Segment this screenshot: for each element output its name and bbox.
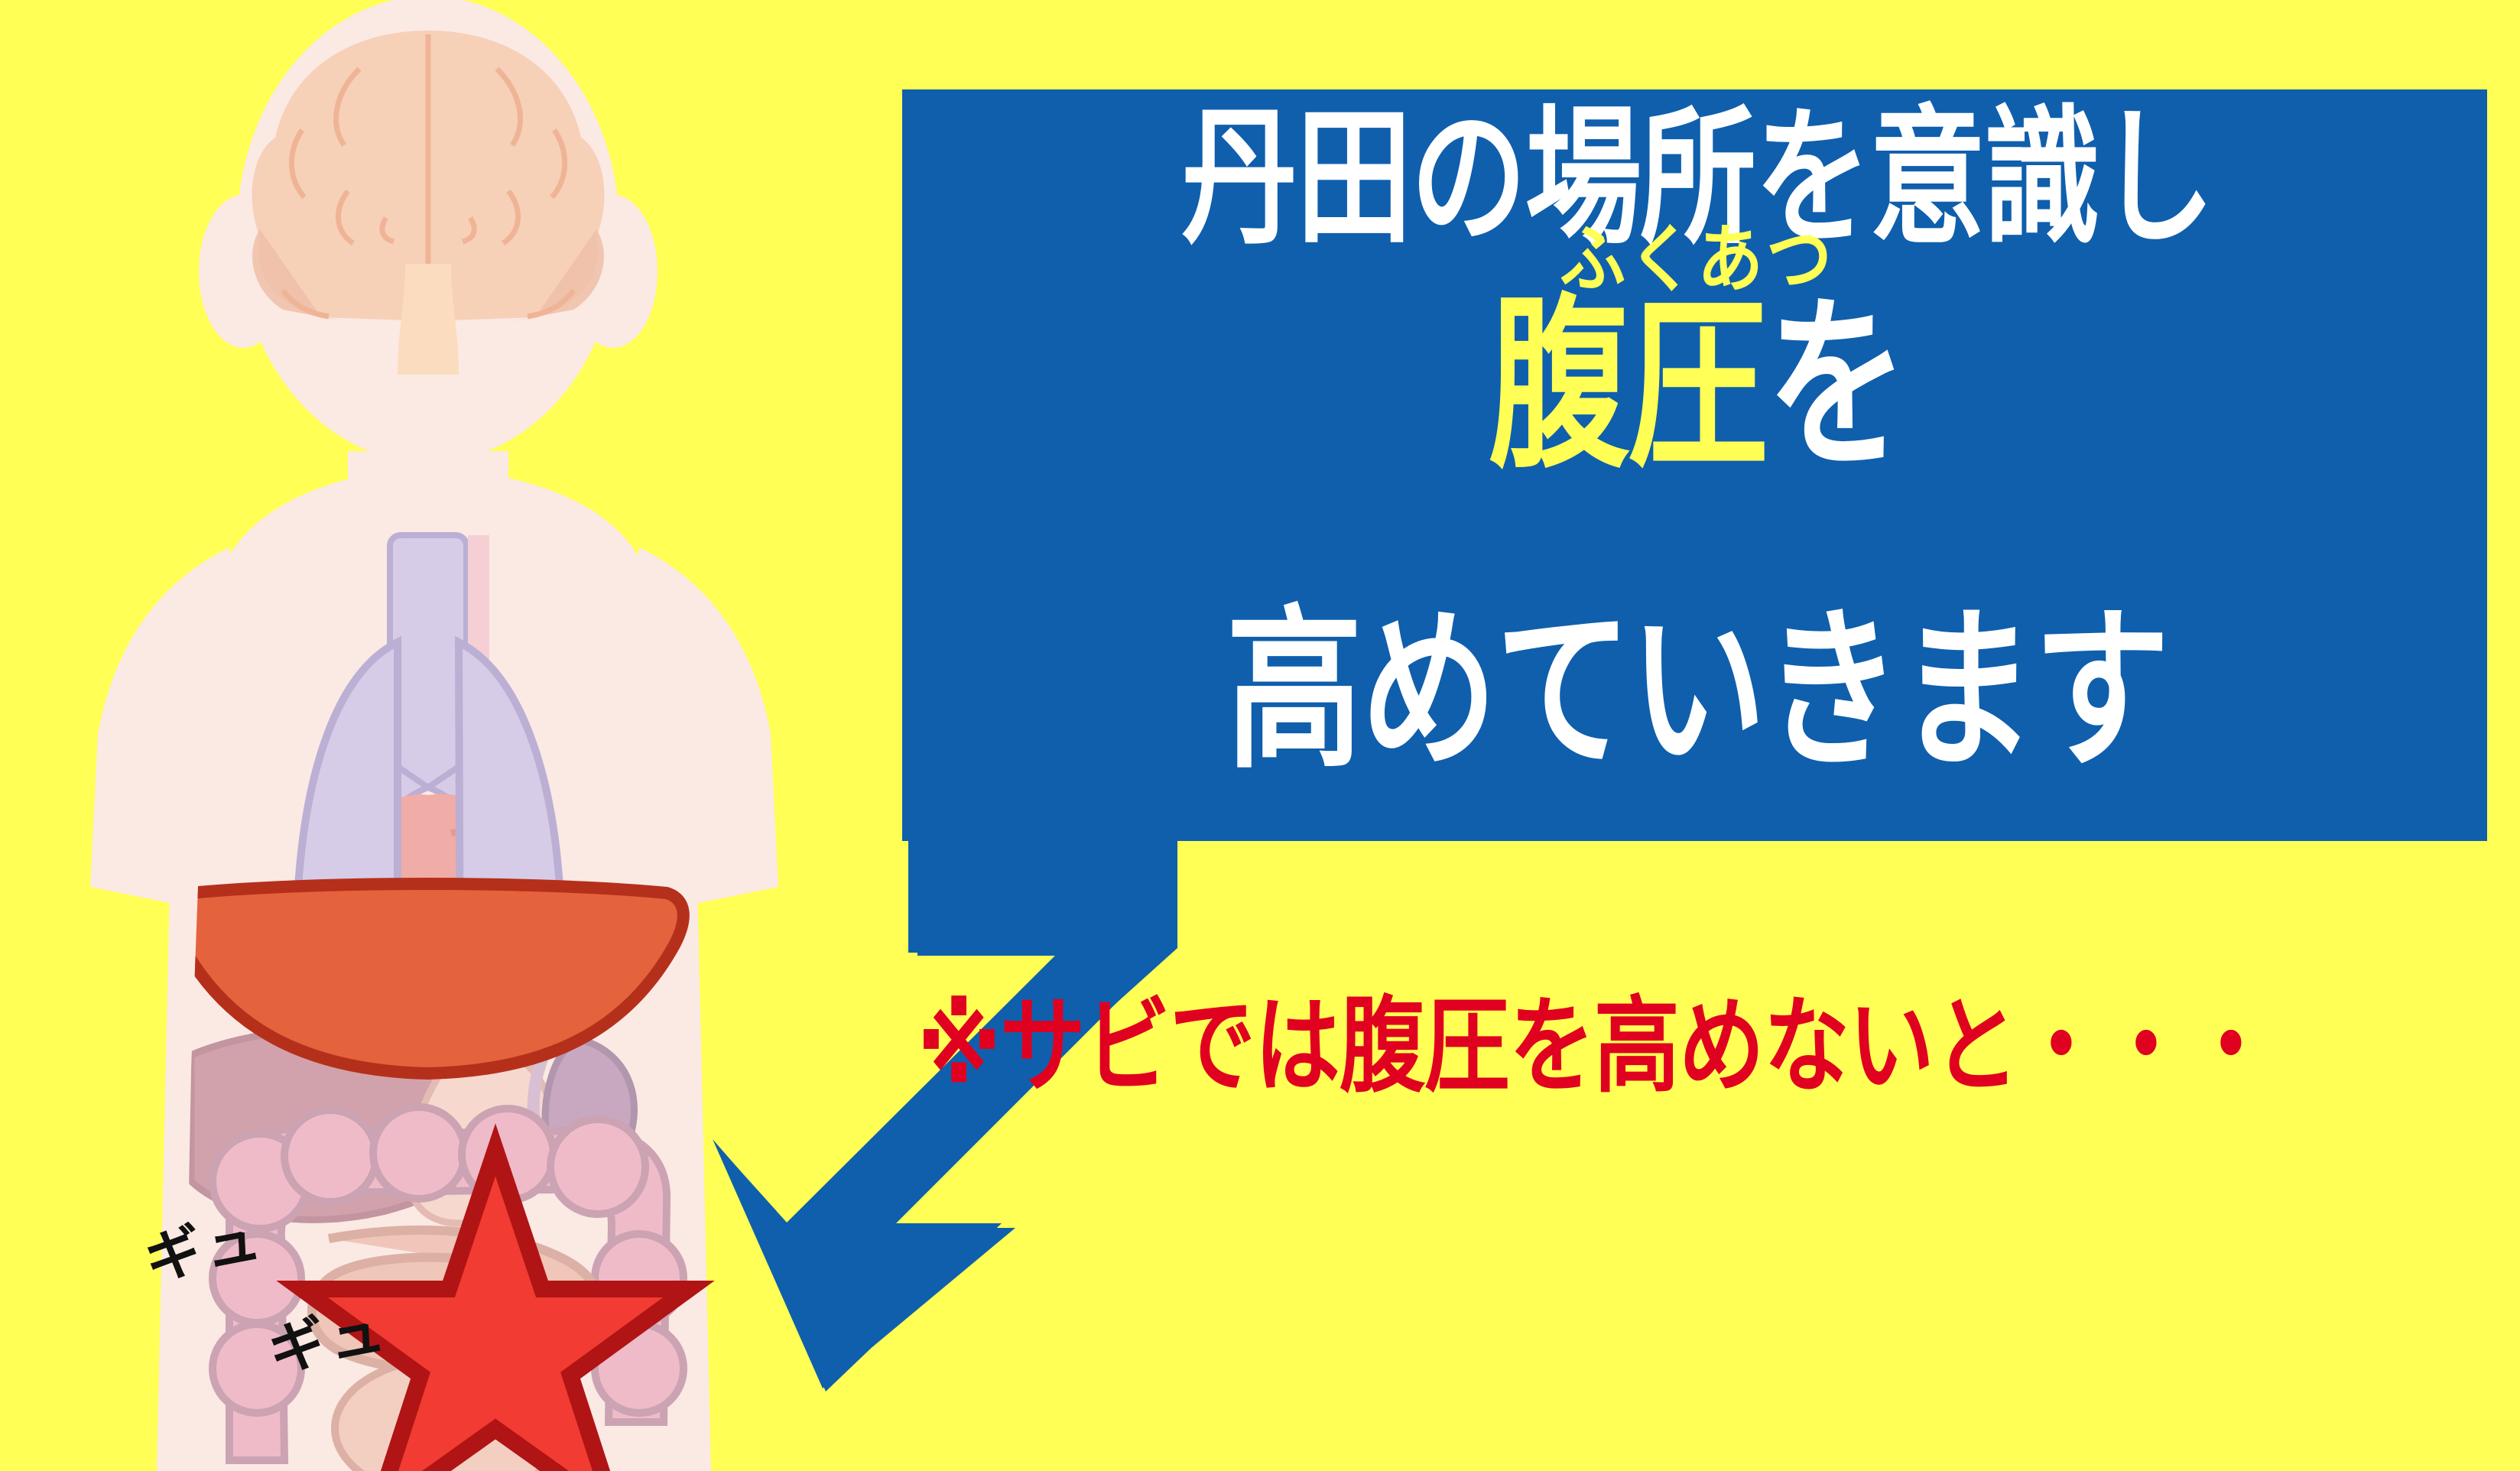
- note-text: ※サビでは腹圧を高めないと・・・: [917, 962, 2416, 1113]
- callout-line-2: 腹圧を: [948, 292, 2447, 478]
- callout-line-3: 高めていきます: [933, 604, 2462, 778]
- callout-line-2-tail: を: [1767, 281, 1906, 489]
- poster-canvas: 丹田の場所を意識し ふくあつ 腹圧を 高めていきます ※サビでは腹圧を高めないと…: [0, 0, 2520, 1471]
- callout-line-2-highlight: 腹圧: [1489, 281, 1767, 489]
